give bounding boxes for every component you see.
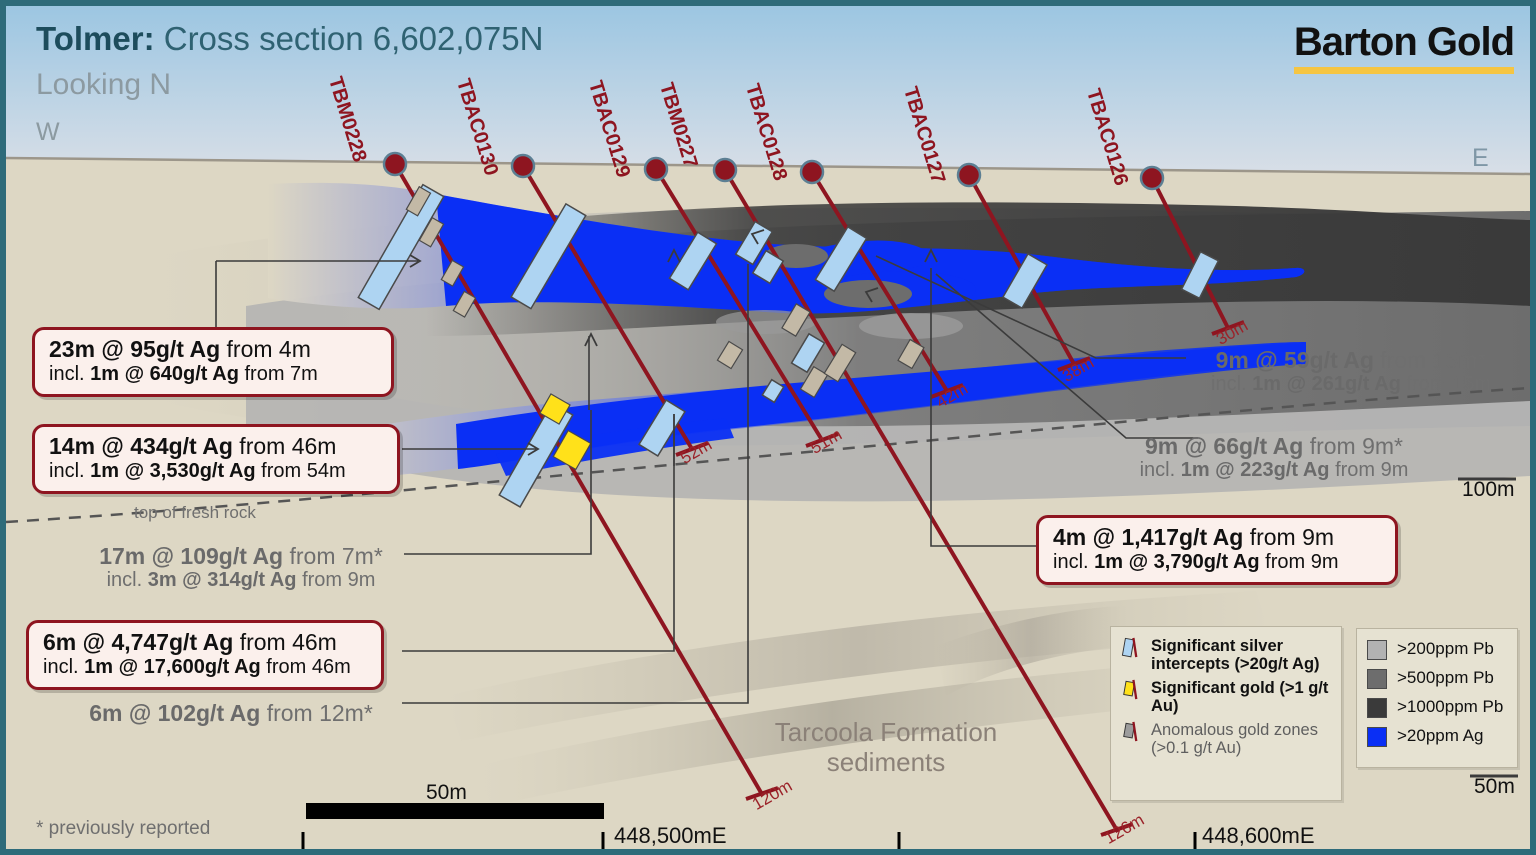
legend-gold-label: Significant gold (>1 g/t Au)	[1151, 679, 1331, 716]
easting-label-right: 448,600mE	[1202, 823, 1315, 849]
callout-23m-95gt: 23m @ 95g/t Ag from 4m incl. 1m @ 640g/t…	[32, 327, 394, 397]
page-title: Tolmer: Cross section 6,602,075N	[36, 20, 543, 58]
legend-anomalous-label: Anomalous gold zones (>0.1 g/t Au)	[1151, 721, 1331, 758]
callout-line1-bold: 17m @ 109g/t Ag	[99, 543, 283, 569]
gold-intercept-icon	[1121, 679, 1142, 700]
callout-line2-pre: incl.	[1211, 373, 1252, 395]
formation-line-1: Tarcoola Formation	[751, 718, 1021, 748]
callout-line1-rest: from 9m	[1243, 524, 1334, 550]
callout-line2-rest: from 54m	[256, 460, 346, 482]
callout-line2-pre: incl.	[107, 569, 148, 591]
callout-line1: 6m @ 4,747g/t Ag from 46m	[43, 630, 367, 656]
callout-line2-rest: from 15m	[1401, 373, 1491, 395]
callout-line2-bold: 1m @ 3,790g/t Ag	[1094, 551, 1259, 573]
callout-line2-rest: from 9m	[1330, 459, 1409, 481]
subtitle: Looking N	[36, 68, 171, 102]
scale-bar-label: 50m	[426, 781, 467, 805]
callout-line2: incl. 1m @ 223g/t Ag from 9m	[1124, 459, 1424, 482]
formation-label: Tarcoola Formation sediments	[751, 718, 1021, 778]
callout-line1: 14m @ 434g/t Ag from 46m	[49, 434, 383, 460]
callout-line2-bold: 1m @ 17,600g/t Ag	[84, 656, 261, 678]
callout-4m-1417gt: 4m @ 1,417g/t Ag from 9m incl. 1m @ 3,79…	[1036, 515, 1398, 585]
swatch-pb500-icon	[1367, 669, 1387, 689]
callout-line2-rest: from 46m	[261, 656, 351, 678]
swatch-pb1000-icon	[1367, 698, 1387, 718]
callout-9m-59gt: 9m @ 59g/t Ag from 15m* incl. 1m @ 261g/…	[1196, 347, 1506, 396]
cross-section-figure: Tolmer: Cross section 6,602,075N Looking…	[0, 0, 1536, 855]
legend-color-row: >500ppm Pb	[1367, 667, 1507, 689]
callout-line2: incl. 1m @ 640g/t Ag from 7m	[49, 363, 377, 385]
callout-line1-bold: 23m @ 95g/t Ag	[49, 336, 220, 362]
callout-line1: 6m @ 102g/t Ag from 12m*	[66, 700, 396, 726]
callout-line1-rest: from 9m*	[1303, 433, 1403, 459]
title-bold: Tolmer:	[36, 20, 155, 57]
callout-line2-pre: incl.	[43, 656, 84, 678]
callout-line1: 9m @ 66g/t Ag from 9m*	[1124, 433, 1424, 459]
legend-pb200-label: >200ppm Pb	[1397, 639, 1494, 659]
callout-14m-434gt: 14m @ 434g/t Ag from 46m incl. 1m @ 3,53…	[32, 424, 400, 494]
legend-color-row: >20ppm Ag	[1367, 725, 1507, 747]
callout-line2-rest: from 9m	[1260, 551, 1339, 573]
callout-line1-rest: from 4m	[220, 336, 311, 362]
callout-line2-rest: from 7m	[239, 363, 318, 385]
scale-bar	[306, 803, 604, 819]
legend-ag20-label: >20ppm Ag	[1397, 726, 1484, 746]
callout-line1-bold: 6m @ 4,747g/t Ag	[43, 629, 233, 655]
callout-9m-66gt: 9m @ 66g/t Ag from 9m* incl. 1m @ 223g/t…	[1124, 433, 1424, 482]
previously-reported-note: * previously reported	[36, 818, 210, 840]
callout-line2-pre: incl.	[49, 363, 90, 385]
legend-colors: >200ppm Pb >500ppm Pb >1000ppm Pb >20ppm…	[1356, 628, 1518, 768]
legend-item-anomalous: Anomalous gold zones (>0.1 g/t Au)	[1121, 721, 1331, 758]
legend-symbols: Significant silver intercepts (>20g/t Ag…	[1110, 626, 1342, 801]
callout-6m-102gt: 6m @ 102g/t Ag from 12m*	[66, 700, 396, 726]
callout-17m-109gt: 17m @ 109g/t Ag from 7m* incl. 3m @ 314g…	[76, 543, 406, 592]
callout-line1-rest: from 15m*	[1374, 347, 1486, 373]
silver-intercept-icon	[1121, 637, 1142, 658]
callout-line1-bold: 9m @ 59g/t Ag	[1216, 347, 1374, 373]
callout-line1-bold: 4m @ 1,417g/t Ag	[1053, 524, 1243, 550]
legend-pb1000-label: >1000ppm Pb	[1397, 697, 1503, 717]
swatch-pb200-icon	[1367, 640, 1387, 660]
callout-line1: 17m @ 109g/t Ag from 7m*	[76, 543, 406, 569]
callout-line1-bold: 6m @ 102g/t Ag	[89, 700, 260, 726]
callout-line2: incl. 1m @ 261g/t Ag from 15m	[1196, 373, 1506, 396]
callout-line2-bold: 3m @ 314g/t Ag	[148, 569, 297, 591]
callout-line2: incl. 1m @ 17,600g/t Ag from 46m	[43, 656, 367, 678]
callout-line2: incl. 1m @ 3,530g/t Ag from 54m	[49, 460, 383, 482]
depth-label-100m: 100m	[1462, 478, 1515, 502]
east-label: E	[1472, 144, 1489, 173]
callout-line1: 4m @ 1,417g/t Ag from 9m	[1053, 525, 1381, 551]
callout-line2-pre: incl.	[49, 460, 90, 482]
legend-item-gold: Significant gold (>1 g/t Au)	[1121, 679, 1331, 716]
title-rest: Cross section 6,602,075N	[155, 20, 544, 57]
legend-silver-label: Significant silver intercepts (>20g/t Ag…	[1151, 637, 1331, 674]
callout-line2-bold: 1m @ 3,530g/t Ag	[90, 460, 255, 482]
callout-line1-bold: 14m @ 434g/t Ag	[49, 433, 233, 459]
legend-color-row: >1000ppm Pb	[1367, 696, 1507, 718]
callout-line1: 9m @ 59g/t Ag from 15m*	[1196, 347, 1506, 373]
callout-line2: incl. 3m @ 314g/t Ag from 9m	[76, 569, 406, 592]
callout-line1-bold: 9m @ 66g/t Ag	[1145, 433, 1303, 459]
callout-6m-4747gt: 6m @ 4,747g/t Ag from 46m incl. 1m @ 17,…	[26, 620, 384, 690]
easting-label-left: 448,500mE	[614, 823, 727, 849]
swatch-ag20-icon	[1367, 727, 1387, 747]
callout-line1: 23m @ 95g/t Ag from 4m	[49, 337, 377, 363]
callout-line2-bold: 1m @ 640g/t Ag	[90, 363, 239, 385]
formation-line-2: sediments	[751, 748, 1021, 778]
barton-gold-logo: Barton Gold	[1294, 20, 1514, 74]
legend-item-silver: Significant silver intercepts (>20g/t Ag…	[1121, 637, 1331, 674]
logo-text: Barton Gold	[1294, 20, 1514, 65]
figure-frame: Tolmer: Cross section 6,602,075N Looking…	[6, 6, 1530, 849]
legend-pb500-label: >500ppm Pb	[1397, 668, 1494, 688]
callout-line1-rest: from 12m*	[260, 700, 372, 726]
callout-line1-rest: from 46m	[233, 433, 337, 459]
west-label: W	[36, 118, 60, 147]
logo-underline	[1294, 67, 1514, 74]
legend-color-row: >200ppm Pb	[1367, 638, 1507, 660]
callout-line1-rest: from 46m	[233, 629, 337, 655]
callout-line1-rest: from 7m*	[283, 543, 383, 569]
top-of-fresh-rock-label: top of fresh rock	[134, 503, 256, 523]
callout-line2: incl. 1m @ 3,790g/t Ag from 9m	[1053, 551, 1381, 573]
anomalous-gold-icon	[1121, 721, 1142, 742]
callout-line2-rest: from 9m	[297, 569, 376, 591]
callout-line2-bold: 1m @ 261g/t Ag	[1252, 373, 1401, 395]
depth-label-50m: 50m	[1474, 775, 1515, 799]
callout-line2-pre: incl.	[1053, 551, 1094, 573]
callout-line2-pre: incl.	[1140, 459, 1181, 481]
callout-line2-bold: 1m @ 223g/t Ag	[1181, 459, 1330, 481]
